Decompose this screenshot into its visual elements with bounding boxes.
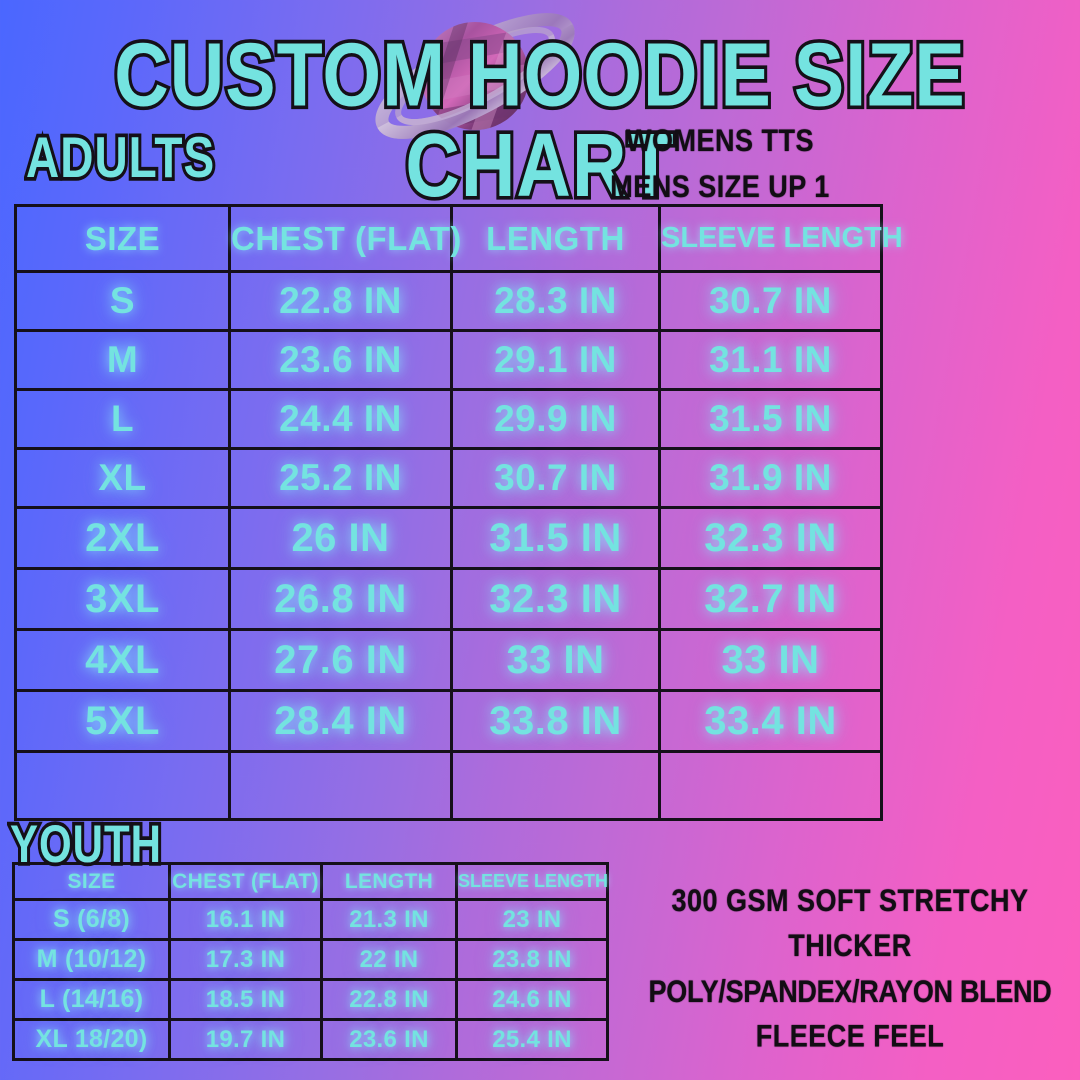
column-header-sleeve-length: SLEEVE LENGTH	[660, 206, 882, 272]
cell-size: M	[16, 331, 230, 390]
cell-sleeve: 33.4 IN	[660, 691, 882, 752]
cell-chest: 23.6 IN	[230, 331, 452, 390]
adults-section-heading: ADULTS	[26, 128, 215, 186]
table-row: L (14/16) 18.5 IN 22.8 IN 24.6 IN	[14, 980, 608, 1020]
cell-sleeve: 31.1 IN	[660, 331, 882, 390]
cell-chest	[230, 752, 452, 820]
cell-size: S (6/8)	[14, 900, 170, 940]
fabric-note-line-4: FLEECE FEEL	[620, 1014, 1080, 1059]
youth-size-table: SIZE CHEST (FLAT) LENGTH SLEEVE LENGTH S…	[12, 862, 609, 1061]
cell-chest: 19.7 IN	[170, 1020, 322, 1060]
cell-length: 29.1 IN	[452, 331, 660, 390]
cell-sleeve: 32.3 IN	[660, 508, 882, 569]
table-row: 3XL 26.8 IN 32.3 IN 32.7 IN	[16, 569, 882, 630]
column-header-length: LENGTH	[322, 864, 457, 900]
cell-size: L (14/16)	[14, 980, 170, 1020]
cell-chest: 16.1 IN	[170, 900, 322, 940]
cell-size: 5XL	[16, 691, 230, 752]
cell-chest: 18.5 IN	[170, 980, 322, 1020]
table-row: S (6/8) 16.1 IN 21.3 IN 23 IN	[14, 900, 608, 940]
cell-sleeve	[660, 752, 882, 820]
cell-size: 4XL	[16, 630, 230, 691]
fabric-note: 300 GSM SOFT STRETCHY THICKER POLY/SPAND…	[620, 878, 1080, 1059]
table-row: L 24.4 IN 29.9 IN 31.5 IN	[16, 390, 882, 449]
cell-sleeve: 23 IN	[457, 900, 608, 940]
cell-length: 33.8 IN	[452, 691, 660, 752]
column-header-chest: CHEST (FLAT)	[170, 864, 322, 900]
cell-chest: 17.3 IN	[170, 940, 322, 980]
table-row: XL 25.2 IN 30.7 IN 31.9 IN	[16, 449, 882, 508]
table-row: 5XL 28.4 IN 33.8 IN 33.4 IN	[16, 691, 882, 752]
cell-length: 22 IN	[322, 940, 457, 980]
cell-chest: 24.4 IN	[230, 390, 452, 449]
cell-length: 23.6 IN	[322, 1020, 457, 1060]
cell-sleeve: 25.4 IN	[457, 1020, 608, 1060]
cell-sleeve: 31.5 IN	[660, 390, 882, 449]
cell-sleeve: 23.8 IN	[457, 940, 608, 980]
table-row: 4XL 27.6 IN 33 IN 33 IN	[16, 630, 882, 691]
cell-size: S	[16, 272, 230, 331]
table-row: XL 18/20) 19.7 IN 23.6 IN 25.4 IN	[14, 1020, 608, 1060]
fabric-note-line-3: POLY/SPANDEX/RAYON BLEND	[620, 968, 1080, 1013]
table-row: 2XL 26 IN 31.5 IN 32.3 IN	[16, 508, 882, 569]
cell-size: M (10/12)	[14, 940, 170, 980]
fit-note-line-2: MENS SIZE UP 1	[520, 164, 920, 210]
cell-size: XL 18/20)	[14, 1020, 170, 1060]
cell-size: 3XL	[16, 569, 230, 630]
table-row: M (10/12) 17.3 IN 22 IN 23.8 IN	[14, 940, 608, 980]
fit-note: WOMENS TTS MENS SIZE UP 1	[520, 118, 920, 210]
cell-sleeve: 31.9 IN	[660, 449, 882, 508]
cell-sleeve: 32.7 IN	[660, 569, 882, 630]
cell-length: 22.8 IN	[322, 980, 457, 1020]
fit-note-line-1: WOMENS TTS	[520, 118, 920, 164]
table-row: S 22.8 IN 28.3 IN 30.7 IN	[16, 272, 882, 331]
fabric-note-line-2: THICKER	[620, 923, 1080, 968]
cell-sleeve: 33 IN	[660, 630, 882, 691]
table-row: M 23.6 IN 29.1 IN 31.1 IN	[16, 331, 882, 390]
cell-sleeve: 24.6 IN	[457, 980, 608, 1020]
cell-length: 29.9 IN	[452, 390, 660, 449]
fabric-note-line-1: 300 GSM SOFT STRETCHY	[620, 878, 1080, 923]
cell-chest: 25.2 IN	[230, 449, 452, 508]
adults-size-table: SIZE CHEST (FLAT) LENGTH SLEEVE LENGTH S…	[14, 204, 883, 821]
cell-size: XL	[16, 449, 230, 508]
cell-size: 2XL	[16, 508, 230, 569]
youth-section-heading: YOUTH	[10, 818, 162, 871]
cell-length: 21.3 IN	[322, 900, 457, 940]
cell-length: 28.3 IN	[452, 272, 660, 331]
cell-chest: 26.8 IN	[230, 569, 452, 630]
cell-length: 30.7 IN	[452, 449, 660, 508]
column-header-size: SIZE	[16, 206, 230, 272]
table-row-empty	[16, 752, 882, 820]
cell-sleeve: 30.7 IN	[660, 272, 882, 331]
cell-size	[16, 752, 230, 820]
column-header-sleeve-length: SLEEVE LENGTH	[457, 864, 608, 900]
cell-length	[452, 752, 660, 820]
cell-length: 31.5 IN	[452, 508, 660, 569]
cell-length: 32.3 IN	[452, 569, 660, 630]
cell-size: L	[16, 390, 230, 449]
cell-chest: 26 IN	[230, 508, 452, 569]
cell-chest: 22.8 IN	[230, 272, 452, 331]
cell-length: 33 IN	[452, 630, 660, 691]
cell-chest: 28.4 IN	[230, 691, 452, 752]
cell-chest: 27.6 IN	[230, 630, 452, 691]
